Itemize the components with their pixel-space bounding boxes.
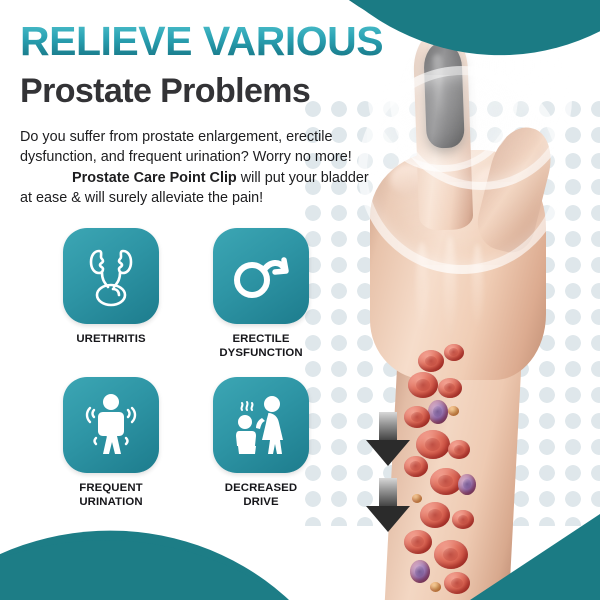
feature-urethritis[interactable]: URETHRITIS [55,228,167,361]
white-blood-cell [410,560,430,583]
feature-label-line-2: DYSFUNCTION [205,347,317,361]
feature-label-line-1: DECREASED [205,482,317,496]
feature-label: ERECTILE DYSFUNCTION [205,333,317,361]
body-line-2: dysfunction, and frequent urination? Wor… [20,149,352,165]
kidneys-bladder-icon [82,245,140,307]
red-blood-cell [452,510,474,529]
feature-grid: URETHRITIS ERECTILE DYSFUNCTION [55,228,335,510]
body-line-3-rest: will put your bladder [237,170,369,186]
male-symbol-drooping-arrow-icon [231,250,291,302]
brand-name: Prostate Care Point Clip [72,170,237,186]
feature-label: FREQUENT URINATION [55,482,167,510]
red-blood-cell [418,350,444,372]
arrow-stem [379,478,397,508]
body-line-1: Do you suffer from prostate enlargement,… [20,129,332,145]
down-arrow-icon [366,412,410,466]
product-advertisement-poster: RELIEVE VARIOUS Prostate Problems Do you… [0,0,600,600]
downward-arrows-group [366,412,410,544]
feature-tile [213,228,309,324]
feature-label: URETHRITIS [55,333,167,347]
feature-label-line-1: URETHRITIS [55,333,167,347]
platelet [412,494,422,503]
feature-label: DECREASED DRIVE [205,482,317,510]
red-blood-cell [416,430,450,459]
feature-row-top: URETHRITIS ERECTILE DYSFUNCTION [55,228,335,361]
platelet [430,582,441,592]
white-blood-cell [428,400,448,424]
headline: RELIEVE VARIOUS [20,21,383,62]
feature-decreased-drive[interactable]: DECREASED DRIVE [205,377,317,510]
red-blood-cell [444,344,464,361]
arrow-head [366,440,410,466]
body-copy: Do you suffer from prostate enlargement,… [20,127,380,209]
person-crossed-legs-icon [81,392,141,458]
red-blood-cell [408,372,438,398]
red-blood-cell [438,378,462,398]
feature-label-line-2: URINATION [55,496,167,510]
couple-low-libido-icon [228,394,294,456]
feature-frequent-urination[interactable]: FREQUENT URINATION [55,377,167,510]
feature-tile [213,377,309,473]
body-line-4: at ease & will surely alleviate the pain… [20,190,263,206]
feature-erectile-dysfunction[interactable]: ERECTILE DYSFUNCTION [205,228,317,361]
feature-row-bottom: FREQUENT URINATION [55,377,335,510]
red-blood-cell [420,502,450,528]
feature-tile [63,377,159,473]
red-blood-cell [434,540,468,569]
arrow-stem [379,412,397,442]
platelet [448,406,459,416]
down-arrow-icon [366,478,410,532]
red-blood-cell [448,440,470,459]
ripple-ring [358,66,566,274]
subheadline: Prostate Problems [20,74,310,110]
feature-label-line-2: DRIVE [205,496,317,510]
arrow-head [366,506,410,532]
red-blood-cell [444,572,470,594]
blood-cells-illustration [404,344,524,600]
feature-label-line-1: ERECTILE [205,333,317,347]
white-blood-cell [458,474,476,495]
feature-label-line-1: FREQUENT [55,482,167,496]
feature-tile [63,228,159,324]
